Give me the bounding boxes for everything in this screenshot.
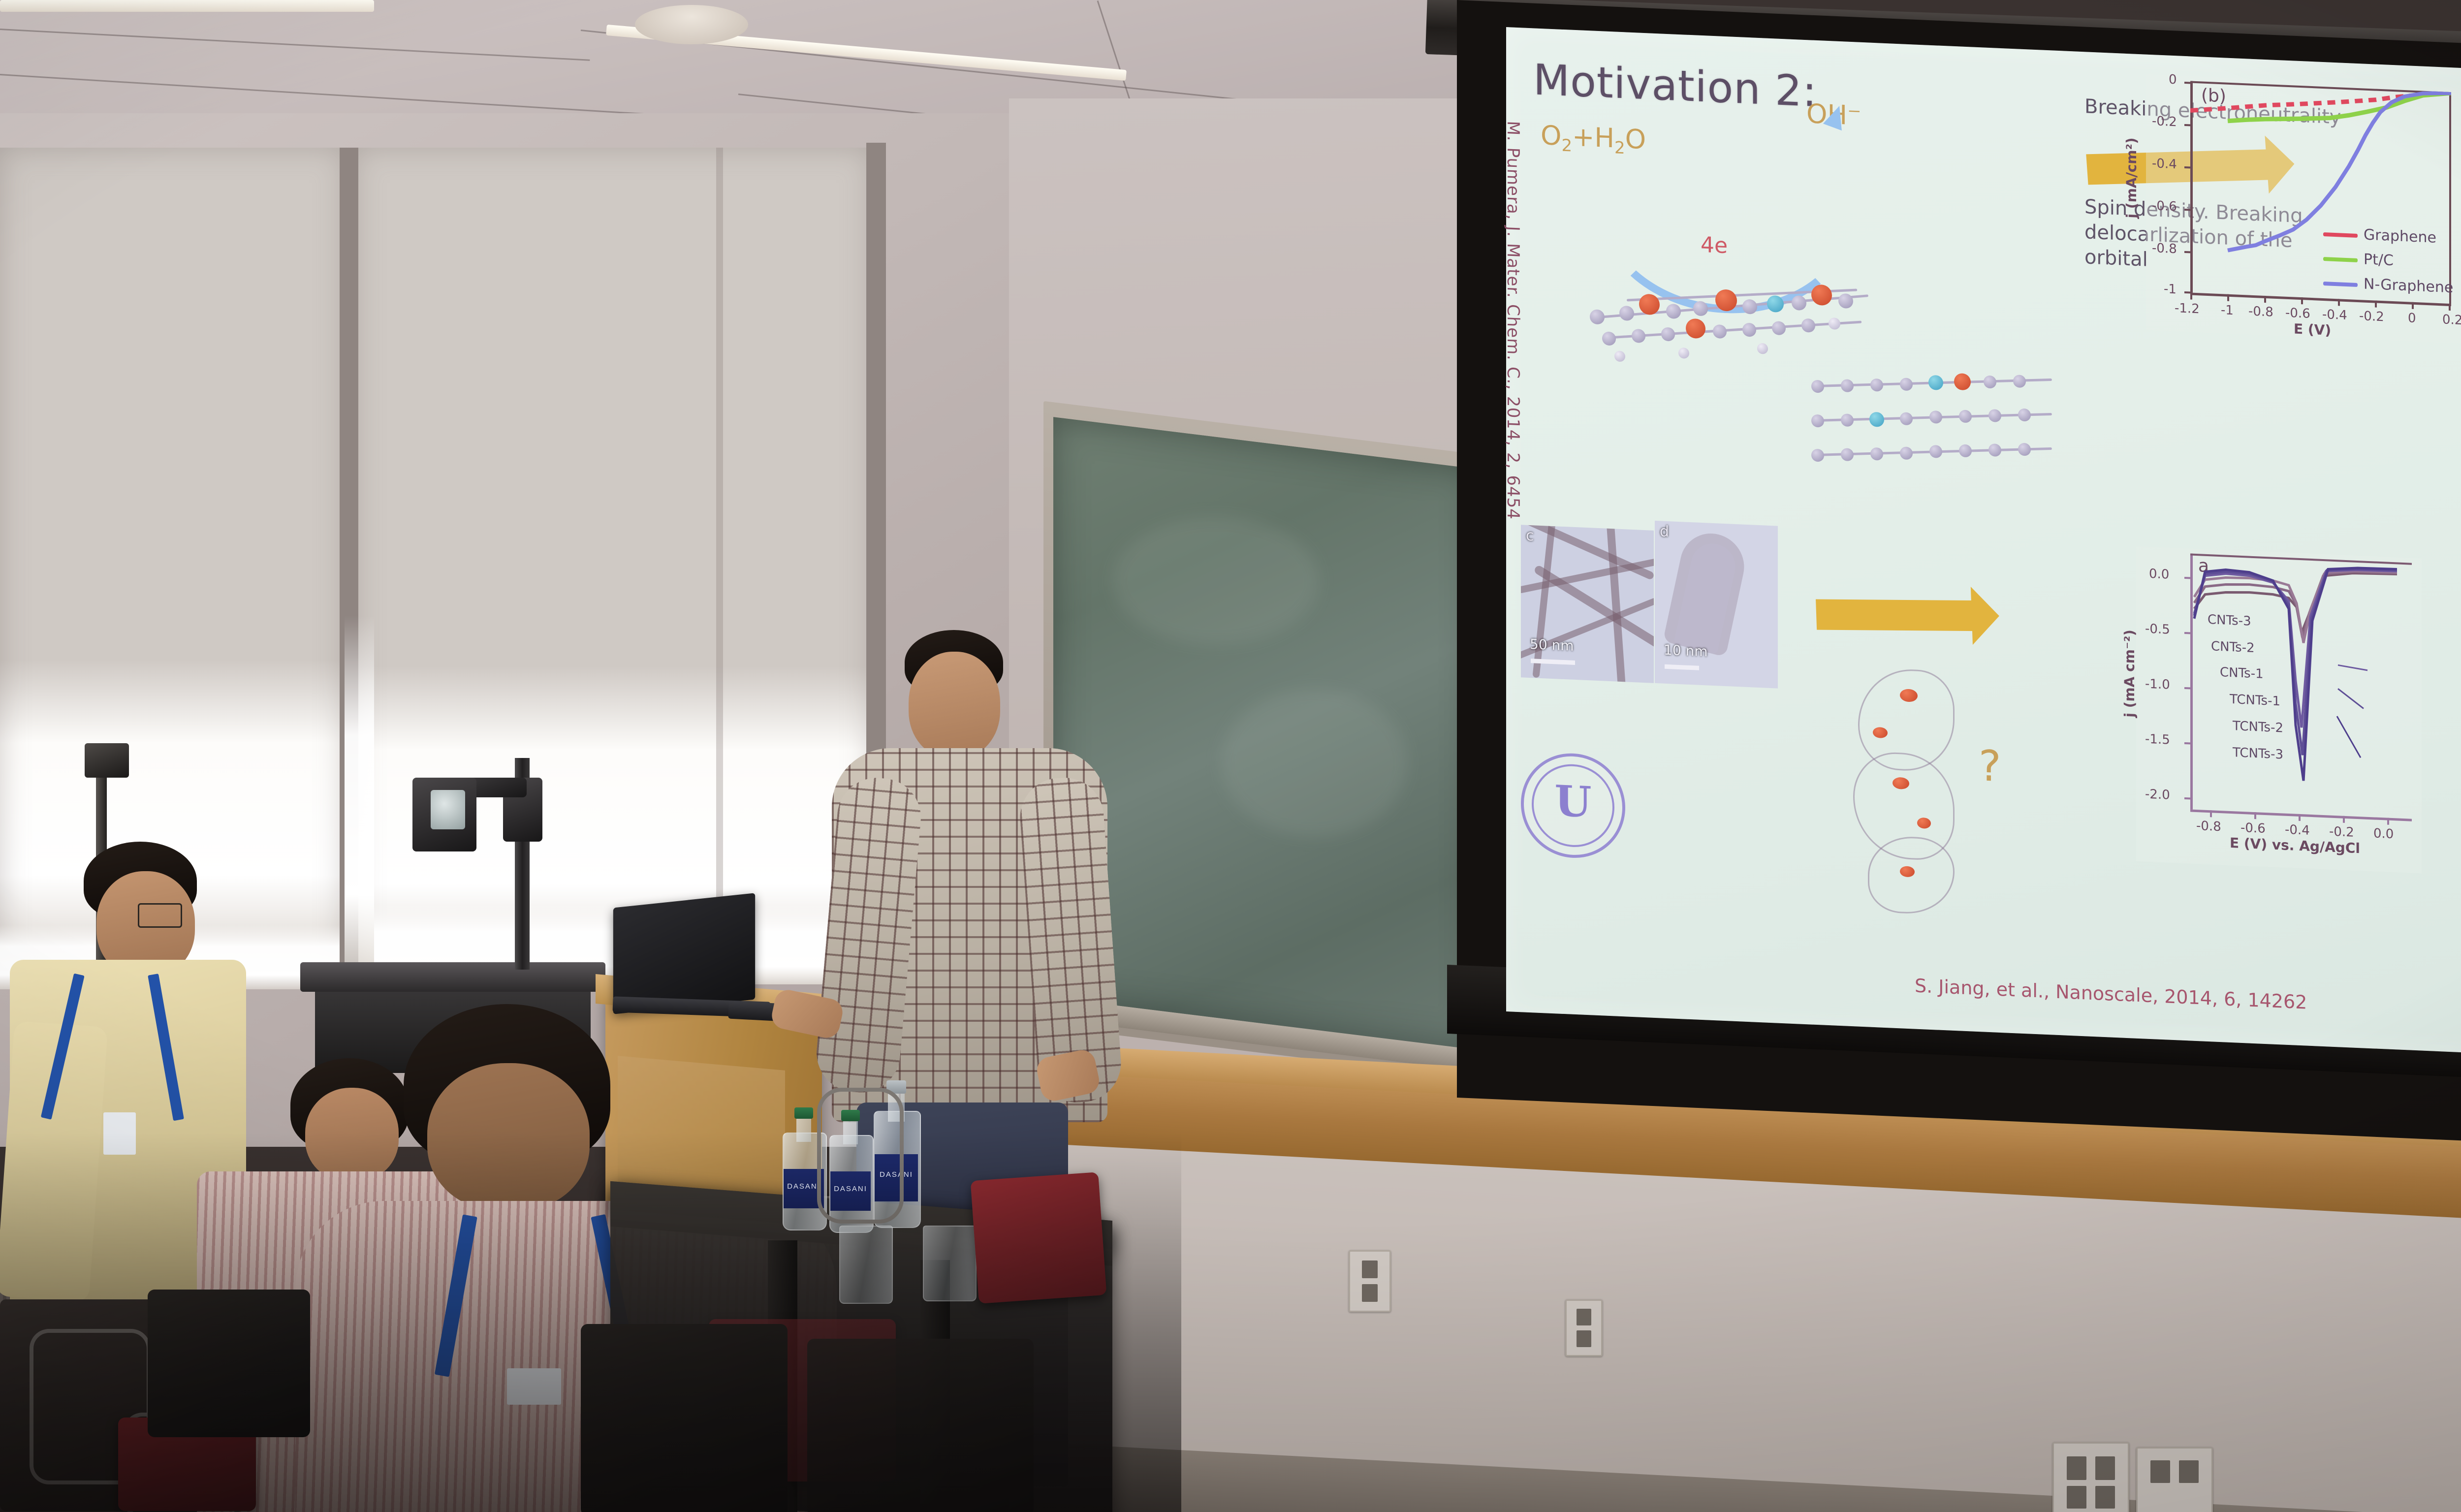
overhead-projector-stage (300, 962, 605, 992)
audience-3-badge (507, 1368, 561, 1405)
particle-cluster (1853, 667, 1981, 918)
annotation-tcnts-1: TCNTs-1 (2230, 692, 2280, 709)
drinking-glass[interactable] (839, 1226, 893, 1304)
y-tick-label: -0.6 (2152, 198, 2177, 214)
annotation-tcnts-2: TCNTs-2 (2233, 719, 2283, 735)
y-tick-label: -0.4 (2152, 156, 2177, 172)
annotation-tcnts-3: TCNTs-3 (2233, 745, 2283, 762)
x-tick-label: 0.2 (2442, 312, 2461, 328)
x-tick-label: -1.2 (2175, 301, 2200, 316)
legend-label-graphene: Graphene (2364, 226, 2436, 247)
annotation-cnts-3: CNTs-3 (2208, 612, 2251, 629)
x-tick-label: -1 (2221, 303, 2234, 318)
x-tick-label: -0.4 (2322, 307, 2347, 323)
presenter-head (909, 652, 1000, 758)
tem-panel-label: c (1526, 527, 1534, 545)
x-tick-label: -0.2 (2359, 309, 2384, 324)
chalk-smudge (1112, 517, 1319, 645)
x-axis-title: E (V) (2294, 320, 2331, 338)
x-tick-label: -0.6 (2285, 306, 2310, 321)
series-paths (2190, 553, 2412, 821)
legend-label-ptc: Pt/C (2364, 251, 2394, 270)
audience-1-badge (103, 1112, 136, 1155)
projection-screen: Motivation 2: O2+H2O OH⁻ 4e (1457, 0, 2461, 1127)
tripod-head (85, 743, 129, 778)
bag (148, 1290, 310, 1437)
x-tick-label: -0.8 (2248, 304, 2273, 320)
y-tick-label: -1.5 (2145, 732, 2170, 748)
n-doped-lattice-model (1806, 355, 2072, 514)
ceiling-dome-light (635, 5, 748, 44)
y-tick-label: -0.2 (2152, 114, 2177, 129)
projected-slide: Motivation 2: O2+H2O OH⁻ 4e (1506, 27, 2461, 1057)
audience-3-head (427, 1063, 590, 1211)
university-seal-logo: U (1521, 751, 1625, 860)
ceiling-light (0, 0, 374, 12)
citation-left-vertical: M. Pumera, J. Mater. Chem. C., 2014, 2, … (1503, 121, 1523, 565)
chart-cv-cnts: a 0.0 -0.5 -1.0 -1.5 -2.0 -0 (2136, 546, 2422, 874)
series-paths (2190, 81, 2451, 305)
y-tick-label: -0.5 (2145, 622, 2170, 637)
x-tick-label: 0.0 (2373, 826, 2394, 842)
y-tick-label: 0 (2169, 72, 2177, 88)
y-tick-label: -1.0 (2145, 677, 2170, 693)
y-tick-label: 0.0 (2149, 567, 2169, 582)
y-tick-label: -0.8 (2152, 241, 2177, 256)
audience-1-glasses (138, 903, 182, 928)
y-tick-label: -2.0 (2145, 787, 2170, 803)
citation-bottom: S. Jiang, et al., Nanoscale, 2014, 6, 14… (1915, 975, 2307, 1013)
classroom-scene: Motivation 2: O2+H2O OH⁻ 4e (0, 0, 2461, 1512)
slide-title: Motivation 2: (1533, 55, 1817, 117)
x-tick-label: -0.8 (2196, 819, 2221, 834)
tem-micrograph-c: c 50 nm (1521, 525, 1654, 683)
laptop-screen[interactable] (613, 893, 755, 1014)
x-tick-label: -0.2 (2329, 824, 2354, 840)
x-tick-label: -0.4 (2285, 822, 2310, 838)
bag (807, 1339, 1034, 1512)
wall-outlet[interactable] (1565, 1299, 1603, 1356)
projector-lens (431, 790, 465, 829)
drinking-glass[interactable] (923, 1226, 977, 1301)
y-tick-label: -1 (2164, 282, 2177, 297)
annotation-cnts-1: CNTs-1 (2220, 665, 2264, 682)
wall-outlet[interactable] (1349, 1250, 1391, 1312)
wall-outlet[interactable] (2136, 1447, 2213, 1512)
chair-armrest[interactable] (817, 1088, 904, 1224)
x-tick-label: 0 (2408, 311, 2416, 326)
x-tick-label: -0.6 (2240, 820, 2266, 836)
tem-micrograph-d: d 10 nm (1655, 521, 1778, 689)
bag (581, 1324, 788, 1512)
question-mark: ? (1979, 741, 2001, 791)
chalk-smudge (1221, 689, 1408, 837)
window-light-gap (345, 177, 374, 975)
tem-scalebar-label: 10 nm (1664, 642, 1708, 660)
y-axis-title: j (mA cm⁻²) (2121, 629, 2138, 718)
seal-letter: U (1555, 776, 1592, 827)
chart-lsv-orr: (b) 0 -0.2 -0.4 -0.6 -0.8 -1 (2146, 74, 2461, 344)
wall-outlet[interactable] (2052, 1442, 2129, 1512)
yellow-arrow-bottom (1816, 599, 1974, 631)
tem-scalebar-label: 50 nm (1530, 636, 1574, 654)
tem-scalebar (1665, 664, 1699, 670)
tem-panel-label: d (1660, 523, 1669, 540)
y-axis-title: j (mA/cm²) (2123, 137, 2140, 219)
annotation-cnts-2: CNTs-2 (2211, 639, 2255, 656)
window-mullion (716, 148, 723, 984)
chair-red[interactable] (971, 1172, 1107, 1304)
